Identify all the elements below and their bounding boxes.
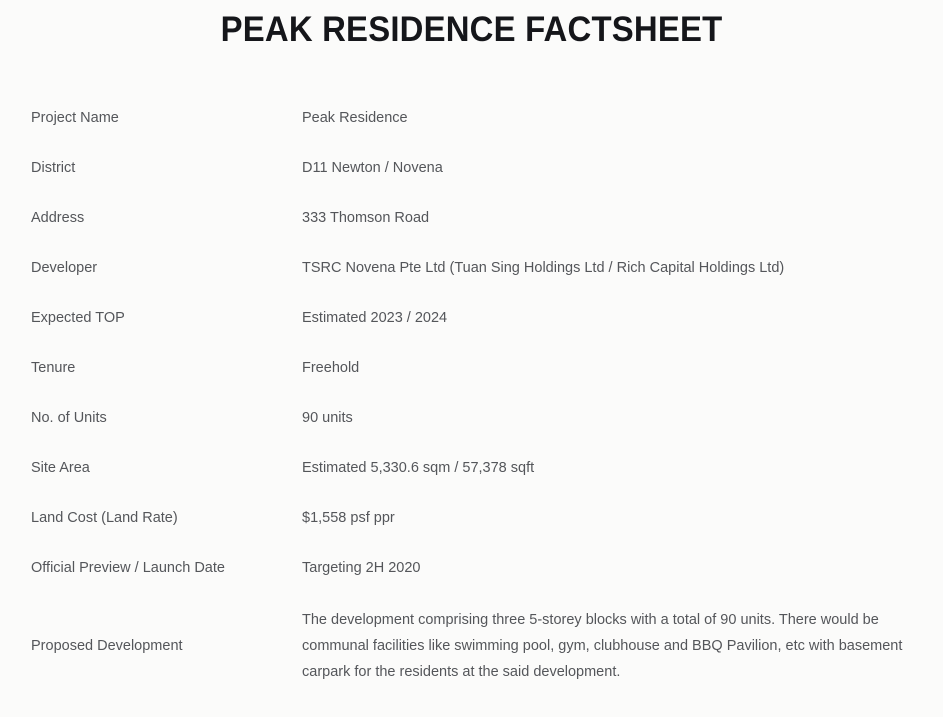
row-label-developer: Developer: [31, 248, 302, 281]
table-row: Developer TSRC Novena Pte Ltd (Tuan Sing…: [31, 248, 921, 298]
row-value-no-of-units: 90 units: [302, 398, 916, 431]
row-label-site-area: Site Area: [31, 448, 302, 481]
row-label-official-preview-launch-date: Official Preview / Launch Date: [31, 548, 302, 581]
table-row: Land Cost (Land Rate) $1,558 psf ppr: [31, 498, 921, 548]
row-label-address: Address: [31, 198, 302, 231]
page-title: PEAK RESIDENCE FACTSHEET: [28, 8, 914, 52]
row-label-no-of-units: No. of Units: [31, 398, 302, 431]
table-row: No. of Units 90 units: [31, 398, 921, 448]
table-row: Site Area Estimated 5,330.6 sqm / 57,378…: [31, 448, 921, 498]
row-value-proposed-development: The development comprising three 5-store…: [302, 607, 916, 685]
table-row: Official Preview / Launch Date Targeting…: [31, 548, 921, 598]
row-label-land-cost: Land Cost (Land Rate): [31, 498, 302, 531]
table-row: Expected TOP Estimated 2023 / 2024: [31, 298, 921, 348]
table-row: Tenure Freehold: [31, 348, 921, 398]
row-label-project-name: Project Name: [31, 98, 302, 131]
row-value-land-cost: $1,558 psf ppr: [302, 498, 916, 531]
table-row: District D11 Newton / Novena: [31, 148, 921, 198]
row-value-expected-top: Estimated 2023 / 2024: [302, 298, 916, 331]
row-value-tenure: Freehold: [302, 348, 916, 381]
factsheet-page: PEAK RESIDENCE FACTSHEET Project Name Pe…: [0, 0, 943, 717]
row-label-expected-top: Expected TOP: [31, 298, 302, 331]
row-label-district: District: [31, 148, 302, 181]
row-value-official-preview-launch-date: Targeting 2H 2020: [302, 548, 916, 581]
table-row: Proposed Development The development com…: [31, 598, 921, 694]
row-label-proposed-development: Proposed Development: [31, 634, 302, 659]
row-value-developer: TSRC Novena Pte Ltd (Tuan Sing Holdings …: [302, 248, 916, 281]
row-label-tenure: Tenure: [31, 348, 302, 381]
table-row: Address 333 Thomson Road: [31, 198, 921, 248]
row-value-address: 333 Thomson Road: [302, 198, 916, 231]
row-value-site-area: Estimated 5,330.6 sqm / 57,378 sqft: [302, 448, 916, 481]
row-value-project-name: Peak Residence: [302, 98, 916, 131]
row-value-district: D11 Newton / Novena: [302, 148, 916, 181]
factsheet-table: Project Name Peak Residence District D11…: [31, 98, 921, 694]
table-row: Project Name Peak Residence: [31, 98, 921, 148]
